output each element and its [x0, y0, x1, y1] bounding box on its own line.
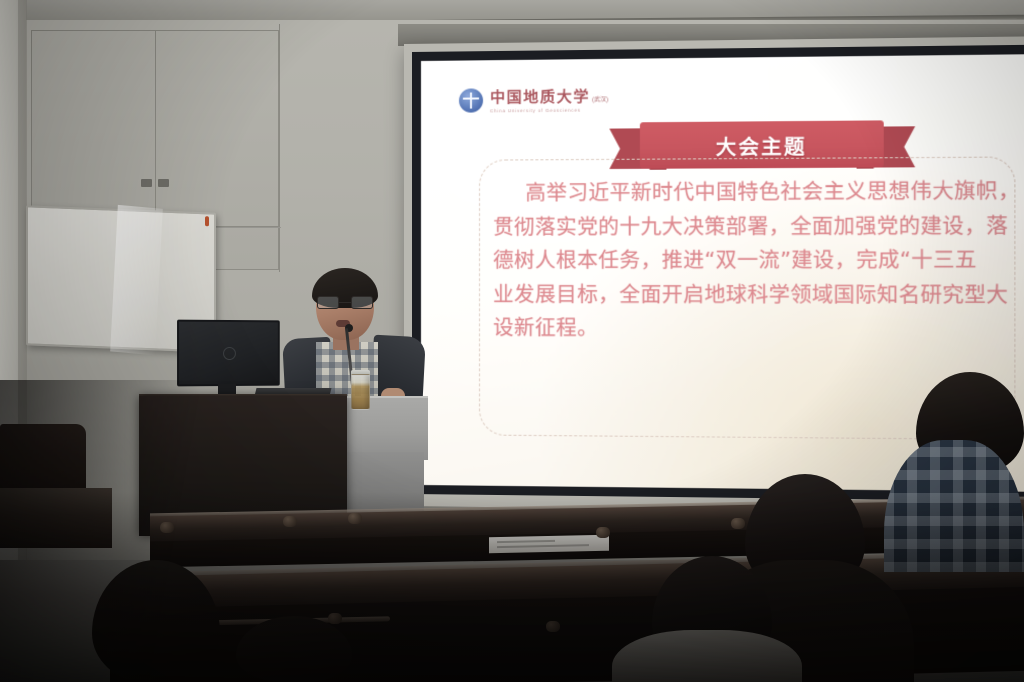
desk-knob	[283, 516, 297, 527]
desk-knob	[328, 613, 342, 624]
glasses-icon	[317, 296, 373, 309]
lecture-hall-photo: 中国地质大学 (武汉) China University of Geoscien…	[0, 0, 1024, 682]
desk-knob	[596, 527, 610, 538]
slide-body-text: 高举习近平新时代中国特色社会主义思想伟大旗帜， 贯彻落实党的十九大决策部署，全面…	[493, 174, 1024, 347]
whiteboard-clip	[205, 216, 209, 226]
cabinet-handle[interactable]	[141, 179, 169, 187]
tea-bottle	[351, 374, 370, 410]
logo-english-name: China University of Geosciences	[490, 107, 608, 113]
dell-logo-icon	[223, 347, 236, 360]
slide-body-line-2: 贯彻落实党的十九大决策部署，全面加强党的建设，落	[493, 208, 1024, 244]
ribbon-title-text: 大会主题	[716, 130, 807, 160]
slide-body-line-5: 设新征程。	[493, 311, 1024, 347]
slide-body-line-3: 德树人根本任务，推进“双一流”建设，完成“十三五	[493, 243, 1024, 278]
desk-knob	[348, 513, 362, 524]
paper-on-desk	[489, 535, 609, 554]
bench-backrest-left	[0, 424, 86, 490]
desk-knob	[731, 518, 745, 529]
university-logo: 中国地质大学 (武汉) China University of Geoscien…	[459, 85, 608, 114]
desk-knob	[546, 621, 560, 632]
logo-chinese-name: 中国地质大学	[490, 85, 590, 107]
whiteboard-glare	[110, 204, 162, 354]
wall-panel-seam-right	[279, 24, 280, 272]
university-emblem-icon	[459, 88, 483, 112]
bench-seat-left	[0, 488, 112, 548]
audience-white-shirt	[612, 630, 802, 682]
desk-knob	[160, 522, 174, 533]
slide-body-line-4: 业发展目标，全面开启地球科学领域国际知名研究型大	[493, 278, 1024, 313]
slide-body-line-1: 高举习近平新时代中国特色社会主义思想伟大旗帜，	[493, 174, 1024, 211]
presenter	[288, 272, 412, 407]
logo-campus: (武汉)	[592, 94, 608, 106]
monitor-screen[interactable]	[177, 320, 280, 387]
